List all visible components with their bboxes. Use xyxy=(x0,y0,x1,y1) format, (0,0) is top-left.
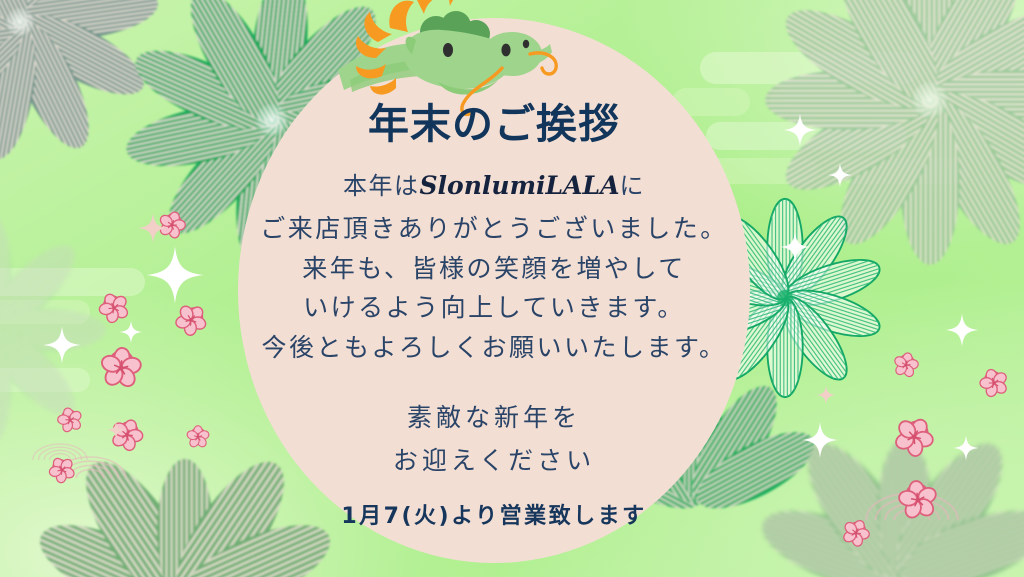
closing-line-1: 素敵な新年を xyxy=(407,404,581,435)
brand-name: SlonlumiLALA xyxy=(420,171,620,200)
sparkle-left-small xyxy=(120,321,143,344)
blossom-8 xyxy=(891,350,922,380)
greeting-prefix: 本年は xyxy=(343,174,420,200)
open-date-text: 1月7(火)より営業致します xyxy=(341,498,646,530)
greeting-line-5: 今後ともよろしくお願いいたします。 xyxy=(261,334,726,365)
blossom-9 xyxy=(975,365,1012,401)
blossom-4 xyxy=(98,346,144,390)
greeting-line-4: いけるよう向上していきます。 xyxy=(303,294,685,325)
sparkle-right-low xyxy=(946,314,979,347)
sparkle-left-large xyxy=(147,247,204,304)
greeting-line-1: 本年はSlonlumiLALAに xyxy=(343,171,645,202)
greeting-line-3: 来年も、皆様の笑顔を増やして xyxy=(302,255,686,286)
sparkle-pink-right xyxy=(816,385,835,404)
blossom-13 xyxy=(186,426,210,449)
flower-left-edge-faint xyxy=(0,212,108,448)
greeting-suffix: に xyxy=(619,174,645,200)
blossom-6 xyxy=(105,414,148,456)
blossom-3 xyxy=(168,298,213,343)
card-content: 年末のご挨拶 本年はSlonlumiLALAに ご来店頂きありがとうございました… xyxy=(238,18,750,563)
page-title: 年末のご挨拶 xyxy=(368,104,620,145)
greeting-line-2: ご来店頂きありがとうございました。 xyxy=(260,215,728,246)
new-year-greeting-card: 年末のご挨拶 本年はSlonlumiLALAに ご来店頂きありがとうございました… xyxy=(0,0,1024,577)
closing-line-2: お迎えください xyxy=(393,447,595,478)
